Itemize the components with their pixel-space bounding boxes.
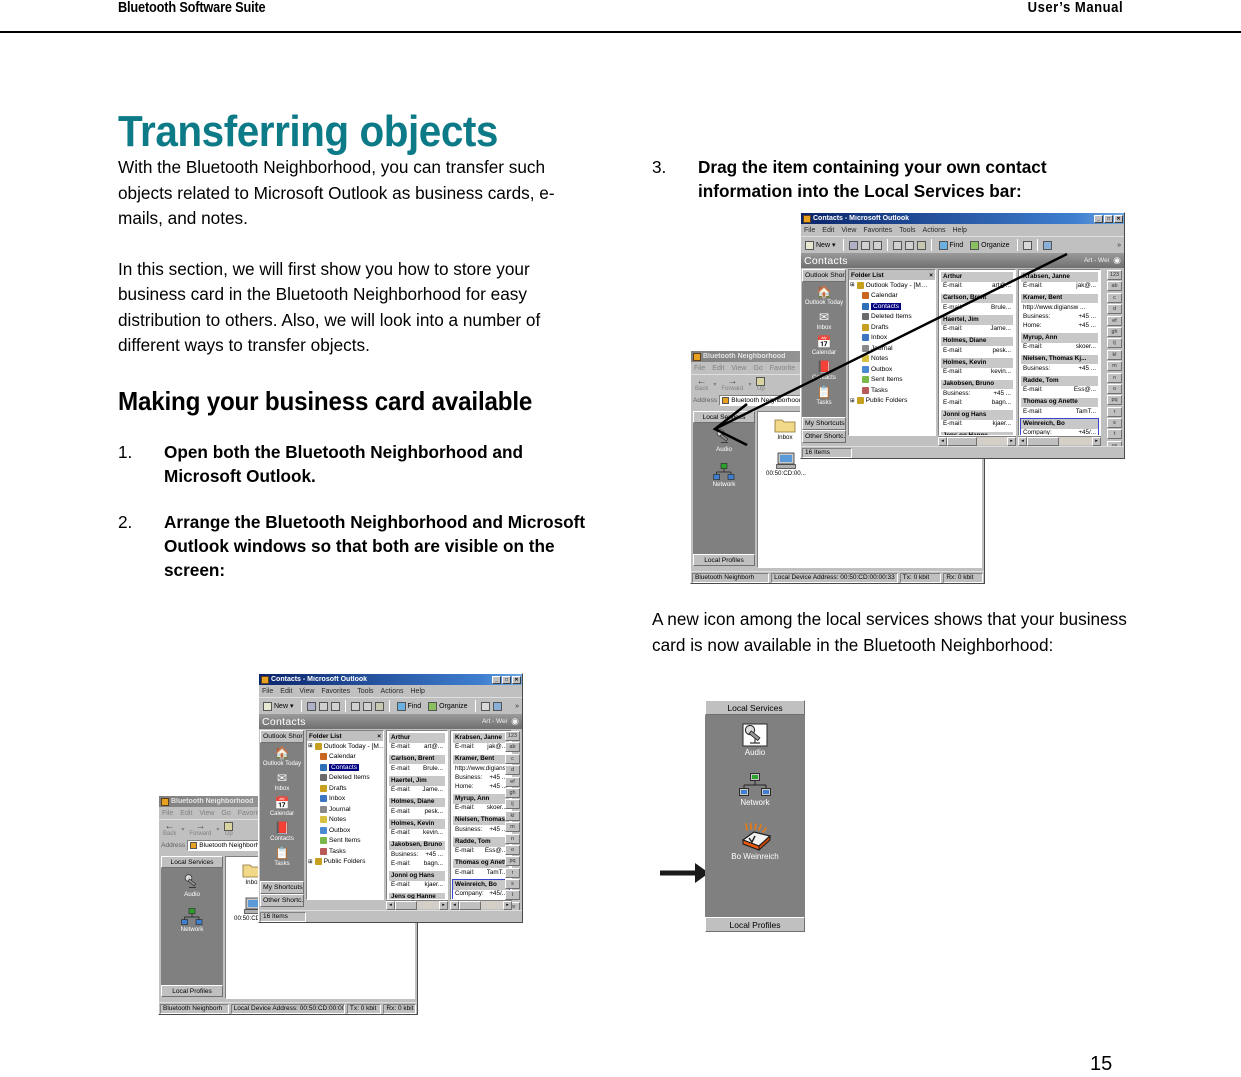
outlook2-banner-title: Contacts: [262, 716, 306, 728]
alpha-button[interactable]: ef: [1107, 316, 1122, 326]
local-services-panel[interactable]: Local Services Audio: [705, 700, 805, 940]
folder-public-folders[interactable]: ⊞ Public Folders: [849, 396, 935, 407]
outlook2-menu-favorites[interactable]: Favorites: [321, 688, 350, 695]
folder-deleted-items[interactable]: Deleted Items: [307, 773, 383, 784]
cards-hscrollbar-2b[interactable]: ◂ ▸: [450, 900, 512, 909]
contact-cards-column-1[interactable]: Arthur E-mail:art@... Carlson, Brent E-m…: [938, 269, 1016, 436]
folder-root[interactable]: ⊞ Outlook Today - [M…: [849, 280, 935, 291]
scroll-left-icon[interactable]: ◂: [1018, 437, 1027, 446]
contact-card[interactable]: Myrup, Ann E-mail:skoer...: [1021, 333, 1098, 352]
contact-field-label: E-mail:: [943, 347, 963, 355]
close-button[interactable]: ✕: [1114, 215, 1123, 223]
folder-sent-items[interactable]: Sent Items: [307, 836, 383, 847]
contact-card[interactable]: Krabsen, Janne E-mail:jak@...: [1021, 272, 1098, 291]
expand-icon[interactable]: ⊞: [308, 743, 313, 749]
alpha-button[interactable]: m: [1107, 361, 1122, 371]
bn-statusbar: Bluetooth Neighborh Local Device Address…: [691, 571, 984, 583]
contact-field-value: Jame...: [990, 325, 1011, 333]
bn2-service-audio[interactable]: Audio: [182, 873, 202, 899]
outlook-today-icon: 🏠: [274, 746, 291, 761]
contact-field-value: skoer...: [1076, 343, 1096, 351]
alpha-button[interactable]: ij: [1107, 338, 1122, 348]
bn-local-profiles-tab[interactable]: Local Profiles: [693, 554, 755, 566]
alpha-button[interactable]: gh: [505, 788, 520, 798]
alpha-button[interactable]: ab: [1107, 281, 1122, 291]
new-dropdown-icon[interactable]: ▾: [832, 241, 836, 249]
outlook-menubar[interactable]: File Edit View Favorites Tools Actions H…: [801, 224, 1124, 236]
computer-icon: [775, 452, 797, 470]
card-view-icon[interactable]: [917, 241, 926, 250]
outlook2-shortcuts-tab[interactable]: Outlook Shor...: [260, 730, 304, 743]
contact-card[interactable]: Myrup, Ann E-mail:skoer...: [453, 794, 509, 813]
folder-tasks[interactable]: Tasks: [849, 385, 935, 396]
contact-card[interactable]: Holmes, Kevin E-mail:kevin...: [941, 358, 1013, 377]
contact-field-value: art@...: [424, 743, 443, 751]
outlook-shortcuts-list[interactable]: 🏠 Outlook Today ✉ Inbox 📅 Calendar 📕 Con…: [802, 282, 846, 417]
alpha-button[interactable]: kl: [1107, 350, 1122, 360]
folder-list-close-icon[interactable]: ×: [929, 272, 933, 279]
bn-forward-dropdown-icon[interactable]: ▾: [748, 381, 751, 388]
network-icon: [713, 463, 735, 481]
folder-journal[interactable]: Journal: [849, 343, 935, 354]
outlook-menu-view[interactable]: View: [841, 227, 856, 234]
scroll-thumb[interactable]: [395, 901, 417, 910]
folder-journal[interactable]: Journal: [307, 804, 383, 815]
contact-card[interactable]: Jakobsen, Bruno Business:+45 ... E-mail:…: [941, 380, 1013, 408]
folder-list-close-icon[interactable]: ×: [377, 733, 381, 740]
folder-calendar[interactable]: Calendar: [849, 291, 935, 302]
contact-card[interactable]: Nielsen, Thomas Kj... Business:+45 ...: [1021, 355, 1098, 374]
folder-list-title: Folder List: [851, 272, 884, 279]
bn-local-services-body[interactable]: Audio Network: [693, 423, 755, 554]
alpha-button[interactable]: t: [505, 890, 520, 900]
scroll-left-icon[interactable]: ◂: [938, 437, 947, 446]
page-number: 15: [1090, 1053, 1112, 1076]
scroll-thumb[interactable]: [1027, 437, 1059, 446]
folder-drafts[interactable]: Drafts: [849, 322, 935, 333]
outlook-window-buttons[interactable]: _ □ ✕: [1094, 215, 1123, 223]
outlook2-banner-globe-icon[interactable]: ◉: [511, 716, 519, 727]
scroll-right-icon[interactable]: ▸: [1092, 437, 1101, 446]
outlook2-shortcuts-bar[interactable]: Outlook Shor... 🏠 Outlook Today ✉ Inbox …: [260, 730, 304, 908]
view-icon[interactable]: [893, 241, 902, 250]
alpha-button[interactable]: gh: [1107, 327, 1122, 337]
toolbar-overflow-icon[interactable]: »: [515, 703, 519, 710]
alpha-button[interactable]: ef: [505, 777, 520, 787]
contact-field-value: +45 ...: [993, 390, 1011, 398]
contact-field-value: +45 ...: [425, 851, 443, 859]
outlook-menu-file[interactable]: File: [804, 227, 815, 234]
bn-status-pane: Bluetooth Neighborh: [692, 573, 769, 583]
outlook-menu-edit[interactable]: Edit: [822, 227, 834, 234]
outlook2-menu-file[interactable]: File: [262, 688, 273, 695]
contact-card[interactable]: Holmes, Kevin E-mail:kevin...: [389, 819, 445, 838]
organize-button[interactable]: Organize: [968, 240, 1011, 251]
folder-journal-label: Journal: [329, 806, 351, 813]
folder-calendar[interactable]: Calendar: [307, 752, 383, 763]
address-book-icon[interactable]: [1023, 241, 1032, 250]
contact-field-value: Ess@...: [485, 847, 507, 855]
contact-card[interactable]: Carlson, Brent E-mail:Brule...: [941, 294, 1013, 313]
outlook2-menu-view[interactable]: View: [299, 688, 314, 695]
folder-outbox[interactable]: Outbox: [849, 364, 935, 375]
contact-name: Jakobsen, Bruno: [389, 841, 445, 851]
folder-icon: [774, 417, 796, 434]
bn-forward-button[interactable]: → Forward: [719, 376, 745, 393]
local-services-body[interactable]: Audio Network: [705, 715, 805, 917]
deleted-items-folder-icon: [862, 313, 869, 320]
list-icon[interactable]: [905, 241, 914, 250]
outlook-menu-help[interactable]: Help: [953, 227, 967, 234]
bn2-menu-file[interactable]: File: [162, 810, 173, 817]
inbox-folder-icon: [320, 795, 327, 802]
local-profiles-footer-tab[interactable]: Local Profiles: [705, 917, 805, 932]
folder-contacts[interactable]: Contacts: [307, 762, 383, 773]
folder-tasks[interactable]: Tasks: [307, 846, 383, 857]
print-icon[interactable]: [849, 241, 858, 250]
folder-inbox[interactable]: Inbox: [307, 794, 383, 805]
bn2-local-profiles-tab[interactable]: Local Profiles: [161, 985, 223, 997]
bn2-forward-button[interactable]: → Forward: [187, 821, 213, 838]
outlook2-window-buttons[interactable]: _ □ ✕: [492, 676, 521, 684]
contact-cards-column-1b[interactable]: Arthur E-mail:art@... Carlson, Brent E-m…: [386, 730, 448, 900]
bn-service-network[interactable]: Network: [713, 463, 736, 489]
contact-card[interactable]: Krabsen, Janne E-mail:jak@...: [453, 733, 509, 752]
alpha-button[interactable]: c: [1107, 293, 1122, 303]
contact-card[interactable]: Nielsen, Thomas Kj... Business:+45 ...: [453, 816, 509, 835]
minimize-button[interactable]: _: [492, 676, 501, 684]
contact-field-label: E-mail:: [391, 829, 411, 837]
contacts-icon: 📕: [816, 360, 833, 375]
outlook-shortcuts-tab[interactable]: Outlook Shor...: [802, 269, 846, 282]
expand-icon[interactable]: ⊞: [308, 859, 313, 865]
outlook2-toolbar[interactable]: New ▾ Find Organize »: [259, 697, 522, 714]
scroll-left-icon[interactable]: ◂: [386, 901, 395, 910]
contact-card[interactable]: Haertel, Jim E-mail:Jame...: [941, 315, 1013, 334]
folder-sent-items[interactable]: Sent Items: [849, 375, 935, 386]
organize-icon: [970, 241, 979, 250]
bn-service-audio[interactable]: Audio: [714, 428, 734, 454]
alpha-button[interactable]: d: [1107, 304, 1122, 314]
bn2-menu-go[interactable]: Go: [221, 810, 230, 817]
contact-card[interactable]: Kramer, Bent http://www.digiansw ... Bus…: [453, 755, 509, 792]
alpha-button[interactable]: s: [1107, 418, 1122, 428]
contact-cards-column-2b[interactable]: Krabsen, Janne E-mail:jak@... Kramer, Be…: [450, 730, 512, 900]
expand-icon[interactable]: ⊞: [850, 398, 855, 404]
new-dropdown-icon[interactable]: ▾: [290, 702, 294, 710]
bn2-forward-dropdown-icon[interactable]: ▾: [216, 826, 219, 833]
sent-items-folder-icon: [862, 376, 869, 383]
toolbar-sep-5: [1037, 239, 1038, 251]
alpha-button[interactable]: pq: [505, 856, 520, 866]
alpha-button[interactable]: n: [505, 834, 520, 844]
alphabet-index-2[interactable]: 123 ab c d ef gh ij kl m n o pq r s t uv…: [505, 730, 520, 923]
cards-hscrollbar-1b[interactable]: ◂ ▸: [386, 900, 448, 909]
contact-card[interactable]: Haertel, Jim E-mail:Jame...: [389, 776, 445, 795]
contact-field-value: bagn...: [992, 399, 1011, 407]
contact-name: Weinreich, Bo: [1021, 419, 1098, 429]
contact-field-label: E-mail:: [1023, 408, 1043, 416]
bn2-service-network[interactable]: Network: [181, 908, 204, 934]
step-3-number: 3.: [652, 155, 698, 203]
contact-card-selected[interactable]: Weinreich, Bo Company:+45/... E-mail:Bo …: [1021, 419, 1098, 436]
outlook2-menu-help[interactable]: Help: [411, 688, 425, 695]
delete-icon[interactable]: [331, 702, 340, 711]
scroll-left-icon[interactable]: ◂: [450, 901, 459, 910]
alpha-button[interactable]: ab: [505, 742, 520, 752]
expand-icon[interactable]: ⊞: [850, 282, 855, 288]
folder-notes[interactable]: Notes: [307, 815, 383, 826]
bn2-local-services-tab[interactable]: Local Services: [161, 856, 223, 868]
contact-card[interactable]: Jakobsen, Bruno Business:+45 ... E-mail:…: [389, 841, 445, 869]
outlook-folder-list[interactable]: Folder List × ⊞ Outlook Today - [M… Cale…: [848, 269, 936, 436]
contact-card[interactable]: Jens og Hanne E-mail:hann...: [389, 893, 445, 901]
outlook2-menu-tools[interactable]: Tools: [357, 688, 373, 695]
contact-field-value: Ess@...: [1074, 386, 1096, 394]
outlook-menu-tools[interactable]: Tools: [899, 227, 915, 234]
organize-button[interactable]: Organize: [426, 701, 469, 712]
contact-card[interactable]: Arthur E-mail:art@...: [389, 733, 445, 752]
folder-contacts[interactable]: Contacts: [849, 301, 935, 312]
service-audio[interactable]: Audio: [741, 723, 769, 757]
new-button[interactable]: New ▾: [803, 240, 838, 251]
scroll-right-icon[interactable]: ▸: [1007, 437, 1016, 446]
maximize-button[interactable]: □: [502, 676, 511, 684]
contact-card[interactable]: Holmes, Diane E-mail:pesk...: [389, 798, 445, 817]
folder-drafts[interactable]: Drafts: [307, 783, 383, 794]
folder-inbox[interactable]: Inbox: [849, 333, 935, 344]
contact-field-label: http://www.digiansw ...: [1023, 304, 1085, 312]
contact-card[interactable]: Kramer, Bent http://www.digiansw ... Bus…: [1021, 294, 1098, 331]
cards-hscrollbar-2[interactable]: ◂ ▸: [1018, 436, 1101, 445]
toolbar-sep-2: [887, 239, 888, 251]
folder-deleted-items[interactable]: Deleted Items: [849, 312, 935, 323]
step-3-text: Drag the item containing your own contac…: [698, 155, 1130, 203]
alpha-button[interactable]: t: [1107, 429, 1122, 439]
outlook2-folder-list[interactable]: Folder List × ⊞ Outlook Today - [M… Cale…: [306, 730, 384, 900]
scroll-right-icon[interactable]: ▸: [439, 901, 448, 910]
folder-root-label: Outlook Today - [M…: [866, 282, 928, 289]
bn-up-button[interactable]: Up: [754, 376, 767, 393]
alphabet-index[interactable]: 123 ab c d ef gh ij kl m n o pq r s t uv…: [1107, 269, 1122, 459]
service-business-card[interactable]: Bo Weinreich: [731, 823, 778, 861]
contact-cards-column-2[interactable]: Krabsen, Janne E-mail:jak@... Kramer, Be…: [1018, 269, 1101, 436]
scroll-thumb[interactable]: [947, 437, 977, 446]
contact-card[interactable]: Thomas og Anette E-mail:TamT...: [453, 859, 509, 878]
scroll-thumb[interactable]: [459, 901, 481, 910]
contact-field-label: E-mail:: [391, 765, 411, 773]
contact-name: Weinreich, Bo: [453, 880, 509, 890]
folder-notes-label: Notes: [871, 355, 888, 362]
alpha-button[interactable]: 123: [505, 731, 520, 741]
bn2-menu-edit[interactable]: Edit: [180, 810, 192, 817]
contact-card[interactable]: Carlson, Brent E-mail:Brule...: [389, 755, 445, 774]
contact-name: Jakobsen, Bruno: [941, 380, 1013, 390]
intro-paragraph-2: In this section, we will first show you …: [118, 257, 588, 359]
step-3: 3. Drag the item containing your own con…: [652, 155, 1130, 203]
contact-field-value: skoer...: [487, 804, 507, 812]
bn2-back-dropdown-icon[interactable]: ▾: [181, 826, 184, 833]
maximize-button[interactable]: □: [1104, 215, 1113, 223]
bn2-up-button[interactable]: Up: [222, 821, 235, 838]
new-button-label: New: [274, 703, 288, 710]
shortcut-calendar[interactable]: 📅 Calendar: [260, 796, 304, 818]
outlook2-menu-edit[interactable]: Edit: [280, 688, 292, 695]
folder-notes[interactable]: Notes: [849, 354, 935, 365]
bn2-menu-view[interactable]: View: [199, 810, 214, 817]
toolbar-sep-3: [389, 700, 390, 712]
contact-card[interactable]: Thomas og Anette E-mail:TamT...: [1021, 398, 1098, 417]
toolbar-overflow-icon[interactable]: »: [1117, 242, 1121, 249]
bn-menu-go[interactable]: Go: [753, 365, 762, 372]
alpha-button[interactable]: r: [1107, 407, 1122, 417]
contact-card[interactable]: Holmes, Diane E-mail:pesk...: [941, 337, 1013, 356]
calendar-folder-icon: [862, 292, 869, 299]
shortcut-outlook-today-label: Outlook Today: [805, 300, 843, 307]
outlook-menu-actions[interactable]: Actions: [923, 227, 946, 234]
alpha-button[interactable]: kl: [505, 811, 520, 821]
shortcut-outlook-today[interactable]: 🏠 Outlook Today: [260, 746, 304, 768]
find-button[interactable]: Find: [395, 701, 424, 712]
contact-field-label: Business:: [455, 826, 482, 834]
contact-field-label: E-mail:: [455, 869, 475, 877]
outlook-other-shortcuts-button[interactable]: Other Shortc...: [802, 430, 846, 443]
contact-card[interactable]: Arthur E-mail:art@...: [941, 272, 1013, 291]
contact-name: Jens og Hanne: [389, 893, 445, 901]
outlook-my-shortcuts-button[interactable]: My Shortcuts: [802, 417, 846, 430]
folder-outbox[interactable]: Outbox: [307, 825, 383, 836]
forward-arrow-icon: →: [727, 377, 737, 386]
bn-back-dropdown-icon[interactable]: ▾: [713, 381, 716, 388]
outlook-banner: Contacts Art - Wei ◉: [801, 253, 1124, 268]
bn-back-button[interactable]: ← Back: [693, 376, 710, 393]
contact-field-label: http://www.digiansw ...: [455, 765, 509, 773]
alpha-button[interactable]: o: [1107, 384, 1122, 394]
service-network[interactable]: Network: [739, 773, 771, 807]
shortcut-inbox[interactable]: ✉ Inbox: [260, 771, 304, 793]
bn-local-services-bar[interactable]: Local Services Audio: [693, 411, 755, 568]
bluetooth-address-icon: [722, 397, 729, 404]
contact-field: Business:+45 ...: [389, 850, 445, 859]
bn-local-services-tab[interactable]: Local Services: [693, 411, 755, 423]
alpha-button[interactable]: ij: [505, 799, 520, 809]
outlook-contacts-window[interactable]: Contacts - Microsoft Outlook _ □ ✕ File …: [800, 212, 1125, 459]
move-icon[interactable]: [319, 702, 328, 711]
alpha-button[interactable]: pq: [1107, 395, 1122, 405]
outlook-banner-globe-icon[interactable]: ◉: [1113, 255, 1121, 266]
bn2-service-audio-label: Audio: [184, 891, 200, 899]
delete-icon[interactable]: [873, 241, 882, 250]
outlook2-my-shortcuts-button[interactable]: My Shortcuts: [260, 881, 304, 894]
find-button[interactable]: Find: [937, 240, 966, 251]
back-arrow-icon: ←: [165, 822, 175, 831]
alpha-button[interactable]: s: [505, 879, 520, 889]
minimize-button[interactable]: _: [1094, 215, 1103, 223]
contact-card-selected[interactable]: Weinreich, Bo Company:+45/... E-mail:Bo …: [453, 880, 509, 900]
contact-card[interactable]: Jonni og Hans E-mail:kjaer...: [389, 871, 445, 890]
cards-hscrollbar-1[interactable]: ◂ ▸: [938, 436, 1016, 445]
contact-name: Myrup, Ann: [1021, 333, 1098, 343]
alpha-button[interactable]: m: [505, 822, 520, 832]
outlook2-shortcuts-list[interactable]: 🏠 Outlook Today ✉ Inbox 📅 Calendar 📕 Con…: [260, 743, 304, 881]
bn2-local-services-body[interactable]: Audio Network: [161, 868, 223, 985]
outlook2-menu-actions[interactable]: Actions: [381, 688, 404, 695]
bn2-back-button[interactable]: ← Back: [161, 821, 178, 838]
close-button[interactable]: ✕: [512, 676, 521, 684]
alpha-button[interactable]: r: [505, 868, 520, 878]
alpha-button[interactable]: d: [505, 765, 520, 775]
folder-root[interactable]: ⊞ Outlook Today - [M…: [307, 741, 383, 752]
contact-name: Thomas og Anette: [453, 859, 509, 869]
outlook2-menubar[interactable]: File Edit View Favorites Tools Actions H…: [259, 685, 522, 697]
outlook-menu-favorites[interactable]: Favorites: [863, 227, 892, 234]
outlook-status-items: 16 Items: [802, 448, 852, 458]
view-icon[interactable]: [351, 702, 360, 711]
alpha-button[interactable]: 123: [1107, 270, 1122, 280]
bn2-local-services-bar[interactable]: Local Services Audio: [161, 856, 223, 999]
bluetooth-window-icon: [693, 353, 701, 361]
folder-calendar-label: Calendar: [871, 292, 898, 299]
contact-name: Arthur: [389, 733, 445, 743]
help-icon[interactable]: [493, 702, 502, 711]
contact-field-label: E-mail:: [391, 786, 411, 794]
shortcut-contacts[interactable]: 📕 Contacts: [260, 821, 304, 843]
tasks-icon: 📋: [816, 385, 833, 400]
outlook-titlebar[interactable]: Contacts - Microsoft Outlook _ □ ✕: [801, 213, 1124, 224]
address-book-icon[interactable]: [481, 702, 490, 711]
shortcut-contacts[interactable]: 📕 Contacts: [802, 360, 846, 382]
contact-name: Haertel, Jim: [389, 776, 445, 786]
shortcut-inbox[interactable]: ✉ Inbox: [802, 310, 846, 332]
shortcut-tasks[interactable]: 📋 Tasks: [260, 846, 304, 868]
outlook-toolbar[interactable]: New ▾ Find Organize »: [801, 236, 1124, 253]
outlook2-other-shortcuts-button[interactable]: Other Shortc...: [260, 894, 304, 907]
calendar-folder-icon: [320, 753, 327, 760]
section-heading: Making your business card available: [118, 384, 555, 418]
toolbar-sep-1: [301, 700, 302, 712]
contact-field: E-mail:jak@...: [453, 743, 509, 752]
help-icon[interactable]: [1043, 241, 1052, 250]
local-services-header-tab[interactable]: Local Services: [705, 700, 805, 715]
new-button[interactable]: New ▾: [261, 701, 296, 712]
contact-card[interactable]: Radde, Tom E-mail:Ess@...: [1021, 376, 1098, 395]
contact-card[interactable]: Jonni og Hans E-mail:kjaer...: [941, 410, 1013, 429]
outlook2-titlebar[interactable]: Contacts - Microsoft Outlook _ □ ✕: [259, 674, 522, 685]
outlook-shortcuts-bar[interactable]: Outlook Shor... 🏠 Outlook Today ✉ Inbox …: [802, 269, 846, 444]
outlook-today-folder-icon: [315, 743, 322, 750]
bn-menu-file[interactable]: File: [694, 365, 705, 372]
print-icon[interactable]: [307, 702, 316, 711]
shortcut-outlook-today[interactable]: 🏠 Outlook Today: [802, 285, 846, 307]
alpha-button[interactable]: o: [505, 845, 520, 855]
outlook-contacts-window-2[interactable]: Contacts - Microsoft Outlook _ □ ✕ File …: [258, 673, 523, 923]
folder-public-folders[interactable]: ⊞ Public Folders: [307, 857, 383, 868]
list-icon[interactable]: [363, 702, 372, 711]
bn-menu-view[interactable]: View: [731, 365, 746, 372]
bn-file-inbox[interactable]: Inbox: [774, 417, 796, 442]
bn-menu-favorites[interactable]: Favorite: [770, 365, 795, 372]
card-view-icon[interactable]: [375, 702, 384, 711]
move-icon[interactable]: [861, 241, 870, 250]
contact-card[interactable]: Radde, Tom E-mail:Ess@...: [453, 837, 509, 856]
shortcut-calendar[interactable]: 📅 Calendar: [802, 335, 846, 357]
scroll-right-icon[interactable]: ▸: [503, 901, 512, 910]
outlook-today-folder-icon: [857, 282, 864, 289]
alpha-button[interactable]: c: [505, 754, 520, 764]
alpha-button[interactable]: n: [1107, 373, 1122, 383]
bn-menu-edit[interactable]: Edit: [712, 365, 724, 372]
shortcut-tasks[interactable]: 📋 Tasks: [802, 385, 846, 407]
